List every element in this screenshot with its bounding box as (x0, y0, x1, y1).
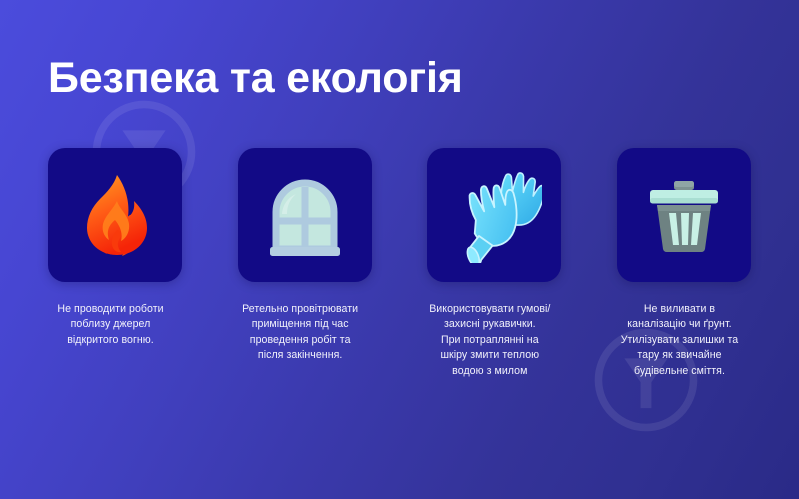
arched-window-icon (257, 167, 353, 263)
rubber-gloves-icon (446, 167, 542, 263)
icon-tile (48, 148, 182, 282)
safety-card-caption: Не проводити роботи поблизу джерел відкр… (35, 302, 187, 348)
trash-bin-icon (636, 167, 732, 263)
icon-tile (238, 148, 372, 282)
safety-cards-row: Не проводити роботи поблизу джерел відкр… (48, 148, 751, 379)
safety-card-ventilation: Ретельно провітрювати приміщення під час… (238, 148, 372, 379)
safety-card-caption: Не виливати в каналізацію чи ґрунт. Утил… (603, 302, 755, 379)
page-title: Безпека та екологія (48, 52, 463, 104)
slide-root: Безпека та екологія (0, 0, 799, 499)
safety-card-caption: Використовувати гумові/ захисні рукавичк… (414, 302, 566, 379)
safety-card-caption: Ретельно провітрювати приміщення під час… (224, 302, 376, 364)
safety-card-gloves: Використовувати гумові/ захисні рукавичк… (427, 148, 561, 379)
flame-icon (67, 167, 163, 263)
icon-tile (427, 148, 561, 282)
safety-card-disposal: Не виливати в каналізацію чи ґрунт. Утил… (617, 148, 751, 379)
icon-tile (617, 148, 751, 282)
safety-card-fire: Не проводити роботи поблизу джерел відкр… (48, 148, 182, 379)
